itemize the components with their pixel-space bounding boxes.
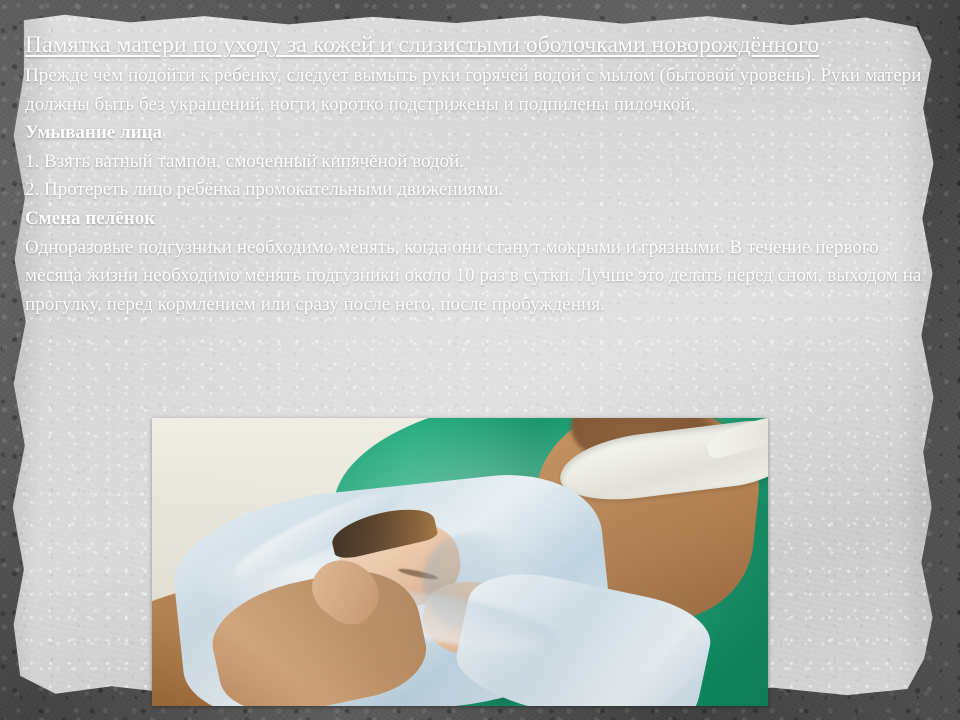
photo-lighting-overlay [152, 418, 768, 706]
list-item: 2. Протереть лицо ребёнка промокательным… [25, 176, 935, 205]
list-item: 1. Взять ватный тампон, смоченный кипячё… [25, 148, 935, 177]
text-block: Памятка матери по уходу за кожей и слизи… [25, 28, 935, 319]
section-heading-changing-diapers: Смена пелёнок [25, 205, 935, 234]
page-title: Памятка матери по уходу за кожей и слизи… [25, 28, 935, 62]
newborn-care-photo [152, 418, 768, 706]
intro-paragraph: Прежде чем подойти к ребенку, следует вы… [25, 62, 935, 119]
diaper-changing-paragraph: Одноразовые подгузники необходимо менять… [25, 234, 935, 320]
slide-content: Памятка матери по уходу за кожей и слизи… [0, 0, 960, 720]
slide-canvas: Памятка матери по уходу за кожей и слизи… [0, 0, 960, 720]
section-heading-washing-face: Умывание лица [25, 119, 935, 148]
